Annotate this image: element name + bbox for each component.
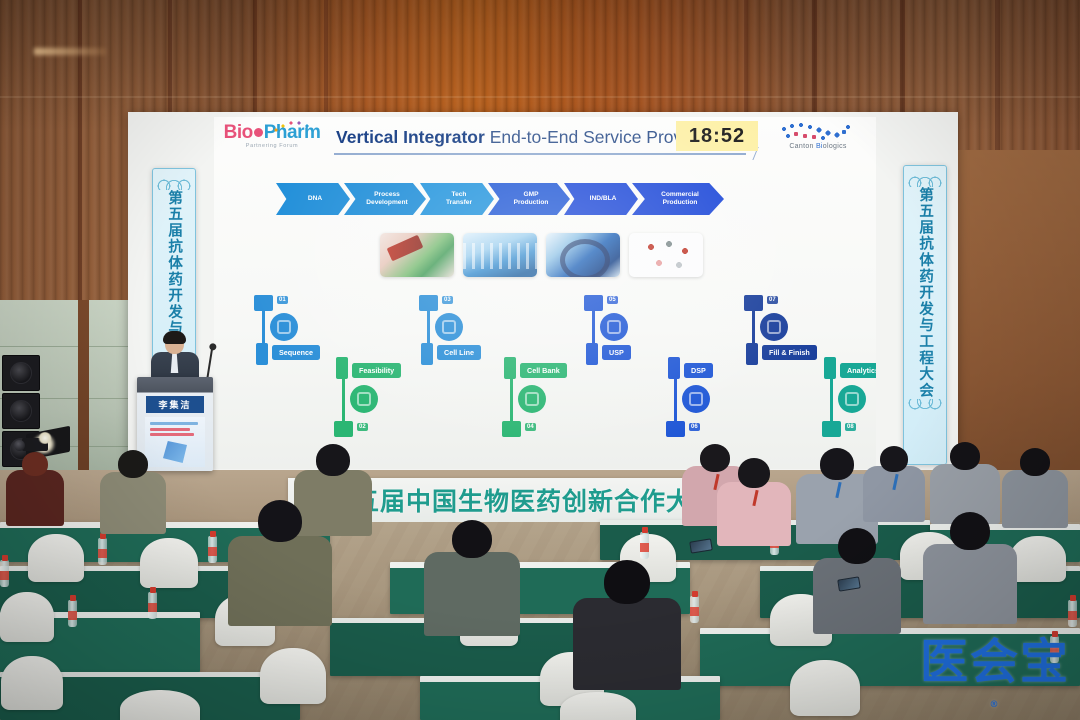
workflow-node-foot — [746, 343, 758, 365]
vertical-banner-right: 第五届抗体药开发与工程大会 — [903, 165, 947, 465]
flask-icon — [350, 385, 378, 413]
audience-member-head — [604, 560, 650, 604]
water-bottle — [148, 592, 157, 619]
audience-chair — [560, 692, 636, 720]
audience-member-body — [424, 552, 520, 636]
wall-accent-light — [34, 48, 106, 55]
audience-member-body — [100, 472, 166, 534]
workflow-label: DSP — [684, 363, 713, 378]
workflow-step-number: 01 — [277, 296, 288, 304]
audience-member-body — [923, 544, 1017, 624]
workflow-node-cap — [744, 295, 763, 311]
workflow-label: Cell Line — [437, 345, 481, 360]
watermark-brand: 医会宝® — [915, 640, 1075, 720]
audience-member-head — [838, 528, 876, 564]
thumb-bioreactor-suite — [463, 233, 537, 277]
vertical-banner-right-text: 第五届抗体药开发与工程大会 — [917, 187, 933, 399]
thumb-vials-syringes — [629, 233, 703, 277]
process-arrow-dna: DNA — [276, 183, 350, 215]
audience-member-body — [717, 482, 791, 546]
slide-title: Vertical Integrator End-to-End Service P… — [336, 127, 711, 148]
cloud-ornament-icon — [905, 399, 945, 416]
process-arrow-ind-bla: IND/BLA — [564, 183, 638, 215]
audience-member-body — [813, 558, 901, 634]
water-bottle — [0, 560, 9, 587]
workflow-step-number: 06 — [689, 423, 700, 431]
audience-member-body — [573, 598, 681, 690]
workflow-node-foot — [586, 343, 598, 365]
audience-chair — [120, 690, 200, 720]
audience-member-head — [258, 500, 302, 542]
audience-chair — [1010, 536, 1066, 582]
column-icon — [682, 385, 710, 413]
audience-member-head — [316, 444, 350, 476]
audience-member-head — [452, 520, 492, 558]
audience-member-body — [863, 466, 925, 522]
cell-icon — [435, 313, 463, 341]
bioreactor-icon — [600, 313, 628, 341]
right-wall-column — [955, 150, 1080, 480]
thumb-pipetting-sample — [380, 233, 454, 277]
presentation-slide: BioPharm Partnering Forum Vertical Integ… — [214, 117, 876, 469]
audience-chair — [260, 648, 326, 704]
process-arrow-label: TechTransfer — [446, 191, 472, 207]
workflow-node-stem — [752, 311, 755, 345]
workflow-node-stem — [427, 311, 430, 345]
slide-title-bold: Vertical Integrator — [336, 127, 485, 147]
audience-chair — [140, 538, 198, 588]
workflow-step-number: 02 — [357, 423, 368, 431]
podium-graphic — [145, 417, 205, 467]
water-bottle — [98, 538, 107, 565]
process-arrow-label: DNA — [308, 195, 322, 203]
audience-chair — [28, 534, 84, 582]
podium: 李集洁 — [137, 377, 213, 471]
audience-member-head — [950, 442, 980, 470]
dna-icon — [270, 313, 298, 341]
audience-chair — [0, 592, 54, 642]
workflow-label: Fill & Finish — [762, 345, 817, 360]
workflow-label: USP — [602, 345, 631, 360]
workflow-node-cap — [666, 421, 685, 437]
slide-header: BioPharm Partnering Forum Vertical Integ… — [214, 117, 876, 159]
biopharm-logo-part1: Bio — [224, 122, 253, 143]
audience-member-body — [1002, 470, 1068, 528]
workflow-node-foot — [336, 357, 348, 379]
process-arrow-label: ProcessDevelopment — [366, 191, 407, 207]
workflow-node-foot — [504, 357, 516, 379]
audience-member-head — [738, 458, 770, 488]
biopharm-logo-left: BioPharm Partnering Forum — [218, 123, 326, 150]
workflow-step-number: 07 — [767, 296, 778, 304]
cloud-ornament-icon — [154, 173, 194, 190]
wall-seam — [0, 96, 1080, 98]
workflow-node-cap — [254, 295, 273, 311]
speaker-name-plate: 李集洁 — [146, 396, 204, 413]
canton-dots-icon — [774, 123, 862, 145]
thumb-centrifuge-equipment — [546, 233, 620, 277]
workflow-label: Cell Bank — [520, 363, 567, 378]
monitor-gear-icon — [838, 385, 866, 413]
audience-member-body — [6, 470, 64, 526]
photo-thumbnail-row — [380, 233, 703, 277]
audience-member-head — [118, 450, 148, 478]
presenter — [145, 333, 205, 381]
audience-member-body — [294, 470, 372, 536]
audience-member-head — [950, 512, 990, 550]
process-arrow-process-development: ProcessDevelopment — [344, 183, 426, 215]
title-underline — [334, 153, 746, 155]
workflow-node-cap — [502, 421, 521, 437]
watermark: 医会宝® medmeeting.com — [915, 640, 1075, 720]
water-bottle — [1068, 600, 1077, 627]
workflow-node-stem — [262, 311, 265, 345]
conference-photo: BioPharm Partnering Forum Vertical Integ… — [0, 0, 1080, 720]
workflow-label: Sequence — [272, 345, 320, 360]
workflow-step-number: 03 — [442, 296, 453, 304]
process-arrow-label: CommercialProduction — [661, 191, 699, 207]
workflow-step-number: 04 — [525, 423, 536, 431]
process-arrow-tech-transfer: TechTransfer — [420, 183, 494, 215]
bank-cell-icon — [518, 385, 546, 413]
workflow-node-foot — [824, 357, 836, 379]
workflow-node-foot — [668, 357, 680, 379]
workflow-label: Feasibility — [352, 363, 401, 378]
countdown-timer: 18:52 — [676, 121, 758, 151]
audience-member-head — [700, 444, 730, 472]
process-arrow-label: IND/BLA — [590, 195, 617, 203]
process-arrow-commercial-production: CommercialProduction — [632, 183, 724, 215]
workflow-node-foot — [256, 343, 268, 365]
biopharm-tagline: Partnering Forum — [218, 144, 326, 150]
audience-chair — [790, 660, 860, 716]
workflow-step-number: 08 — [845, 423, 856, 431]
water-bottle — [68, 600, 77, 627]
workflow-node-cap — [822, 421, 841, 437]
workflow-label: Analytics — [840, 363, 876, 378]
canton-biologics-logo: Canton Biologics — [770, 123, 866, 150]
biopharm-dot-icon — [254, 128, 263, 137]
audience-member-body — [228, 536, 332, 626]
audience-member-head — [22, 452, 48, 476]
vial-fill-icon — [760, 313, 788, 341]
workflow-node-cap — [419, 295, 438, 311]
workflow-node-cap — [334, 421, 353, 437]
workflow-diagram: Sequence01Feasibility02Cell Line03Cell B… — [214, 295, 876, 467]
stage-backdrop-text: 第五届中国生物医药创新合作大会 — [328, 482, 718, 518]
timer-value: 18:52 — [689, 125, 745, 148]
process-arrow-gmp-production: GMPProduction — [488, 183, 570, 215]
water-bottle — [208, 536, 217, 563]
audience-member-head — [820, 448, 854, 480]
process-arrow-label: GMPProduction — [514, 191, 549, 207]
registered-mark: ® — [990, 700, 1001, 710]
audience-chair — [1, 656, 63, 710]
process-arrow-row: DNAProcessDevelopmentTechTransferGMPProd… — [276, 183, 718, 215]
workflow-node-stem — [592, 311, 595, 345]
biopharm-arc-icon — [272, 121, 314, 133]
water-bottle — [640, 532, 649, 559]
cloud-ornament-icon — [905, 170, 945, 187]
audience-member-head — [880, 446, 908, 472]
audience-member-head — [1020, 448, 1050, 476]
workflow-node-cap — [584, 295, 603, 311]
workflow-step-number: 05 — [607, 296, 618, 304]
workflow-node-foot — [421, 343, 433, 365]
water-bottle — [690, 596, 699, 623]
